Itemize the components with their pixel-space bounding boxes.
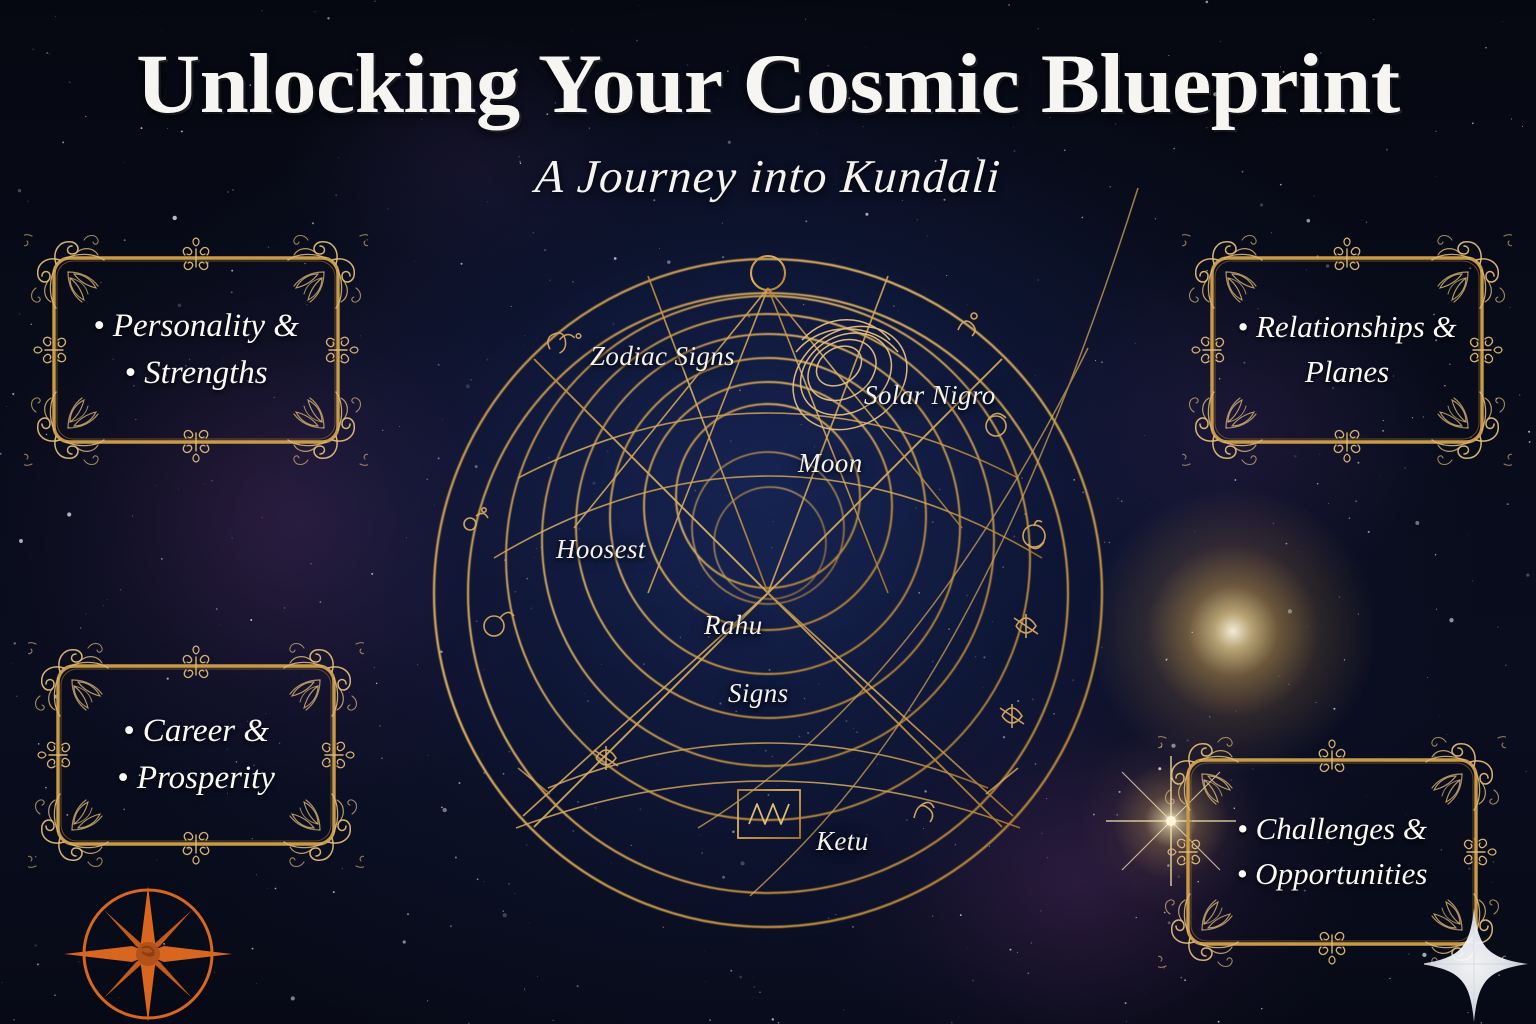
card-line: • Relationships &: [1237, 310, 1456, 345]
card-line: • Challenges &: [1237, 812, 1427, 847]
mandala-label-moon: Moon: [798, 448, 863, 479]
mandala-linework: [398, 228, 1138, 928]
sparkle-star-icon: [1424, 906, 1536, 1024]
mandala-label-solar-nigro: Solar Nigro: [864, 380, 996, 411]
mandala-label-hoosest: Hoosest: [556, 534, 646, 565]
mandala-label-zodiac-signs: Zodiac Signs: [590, 341, 735, 372]
compass-rose-icon: [62, 884, 234, 1024]
card-line: • Career &: [123, 713, 269, 750]
info-card-career[interactable]: • Career & • Prosperity: [28, 636, 364, 874]
mandala-label-signs: Signs: [728, 678, 789, 709]
page-subtitle: A Journey into Kundali: [0, 150, 1536, 204]
info-card-personality[interactable]: • Personality & • Strengths: [24, 228, 368, 472]
page-title: Unlocking Your Cosmic Blueprint: [0, 42, 1536, 127]
info-card-relationships[interactable]: • Relationships & Planes: [1182, 228, 1512, 472]
card-line: Planes: [1305, 355, 1389, 390]
cosmic-mandala-chart: Zodiac Signs Solar Nigro Moon Hoosest Ra…: [398, 228, 1138, 928]
card-line: • Prosperity: [117, 760, 275, 797]
card-line: • Opportunities: [1237, 857, 1428, 892]
mandala-label-ketu: Ketu: [816, 826, 869, 857]
card-line: • Strengths: [124, 355, 267, 392]
mandala-label-rahu: Rahu: [704, 610, 763, 641]
poster-canvas: Zodiac Signs Solar Nigro Moon Hoosest Ra…: [0, 0, 1536, 1024]
card-line: • Personality &: [93, 308, 299, 345]
